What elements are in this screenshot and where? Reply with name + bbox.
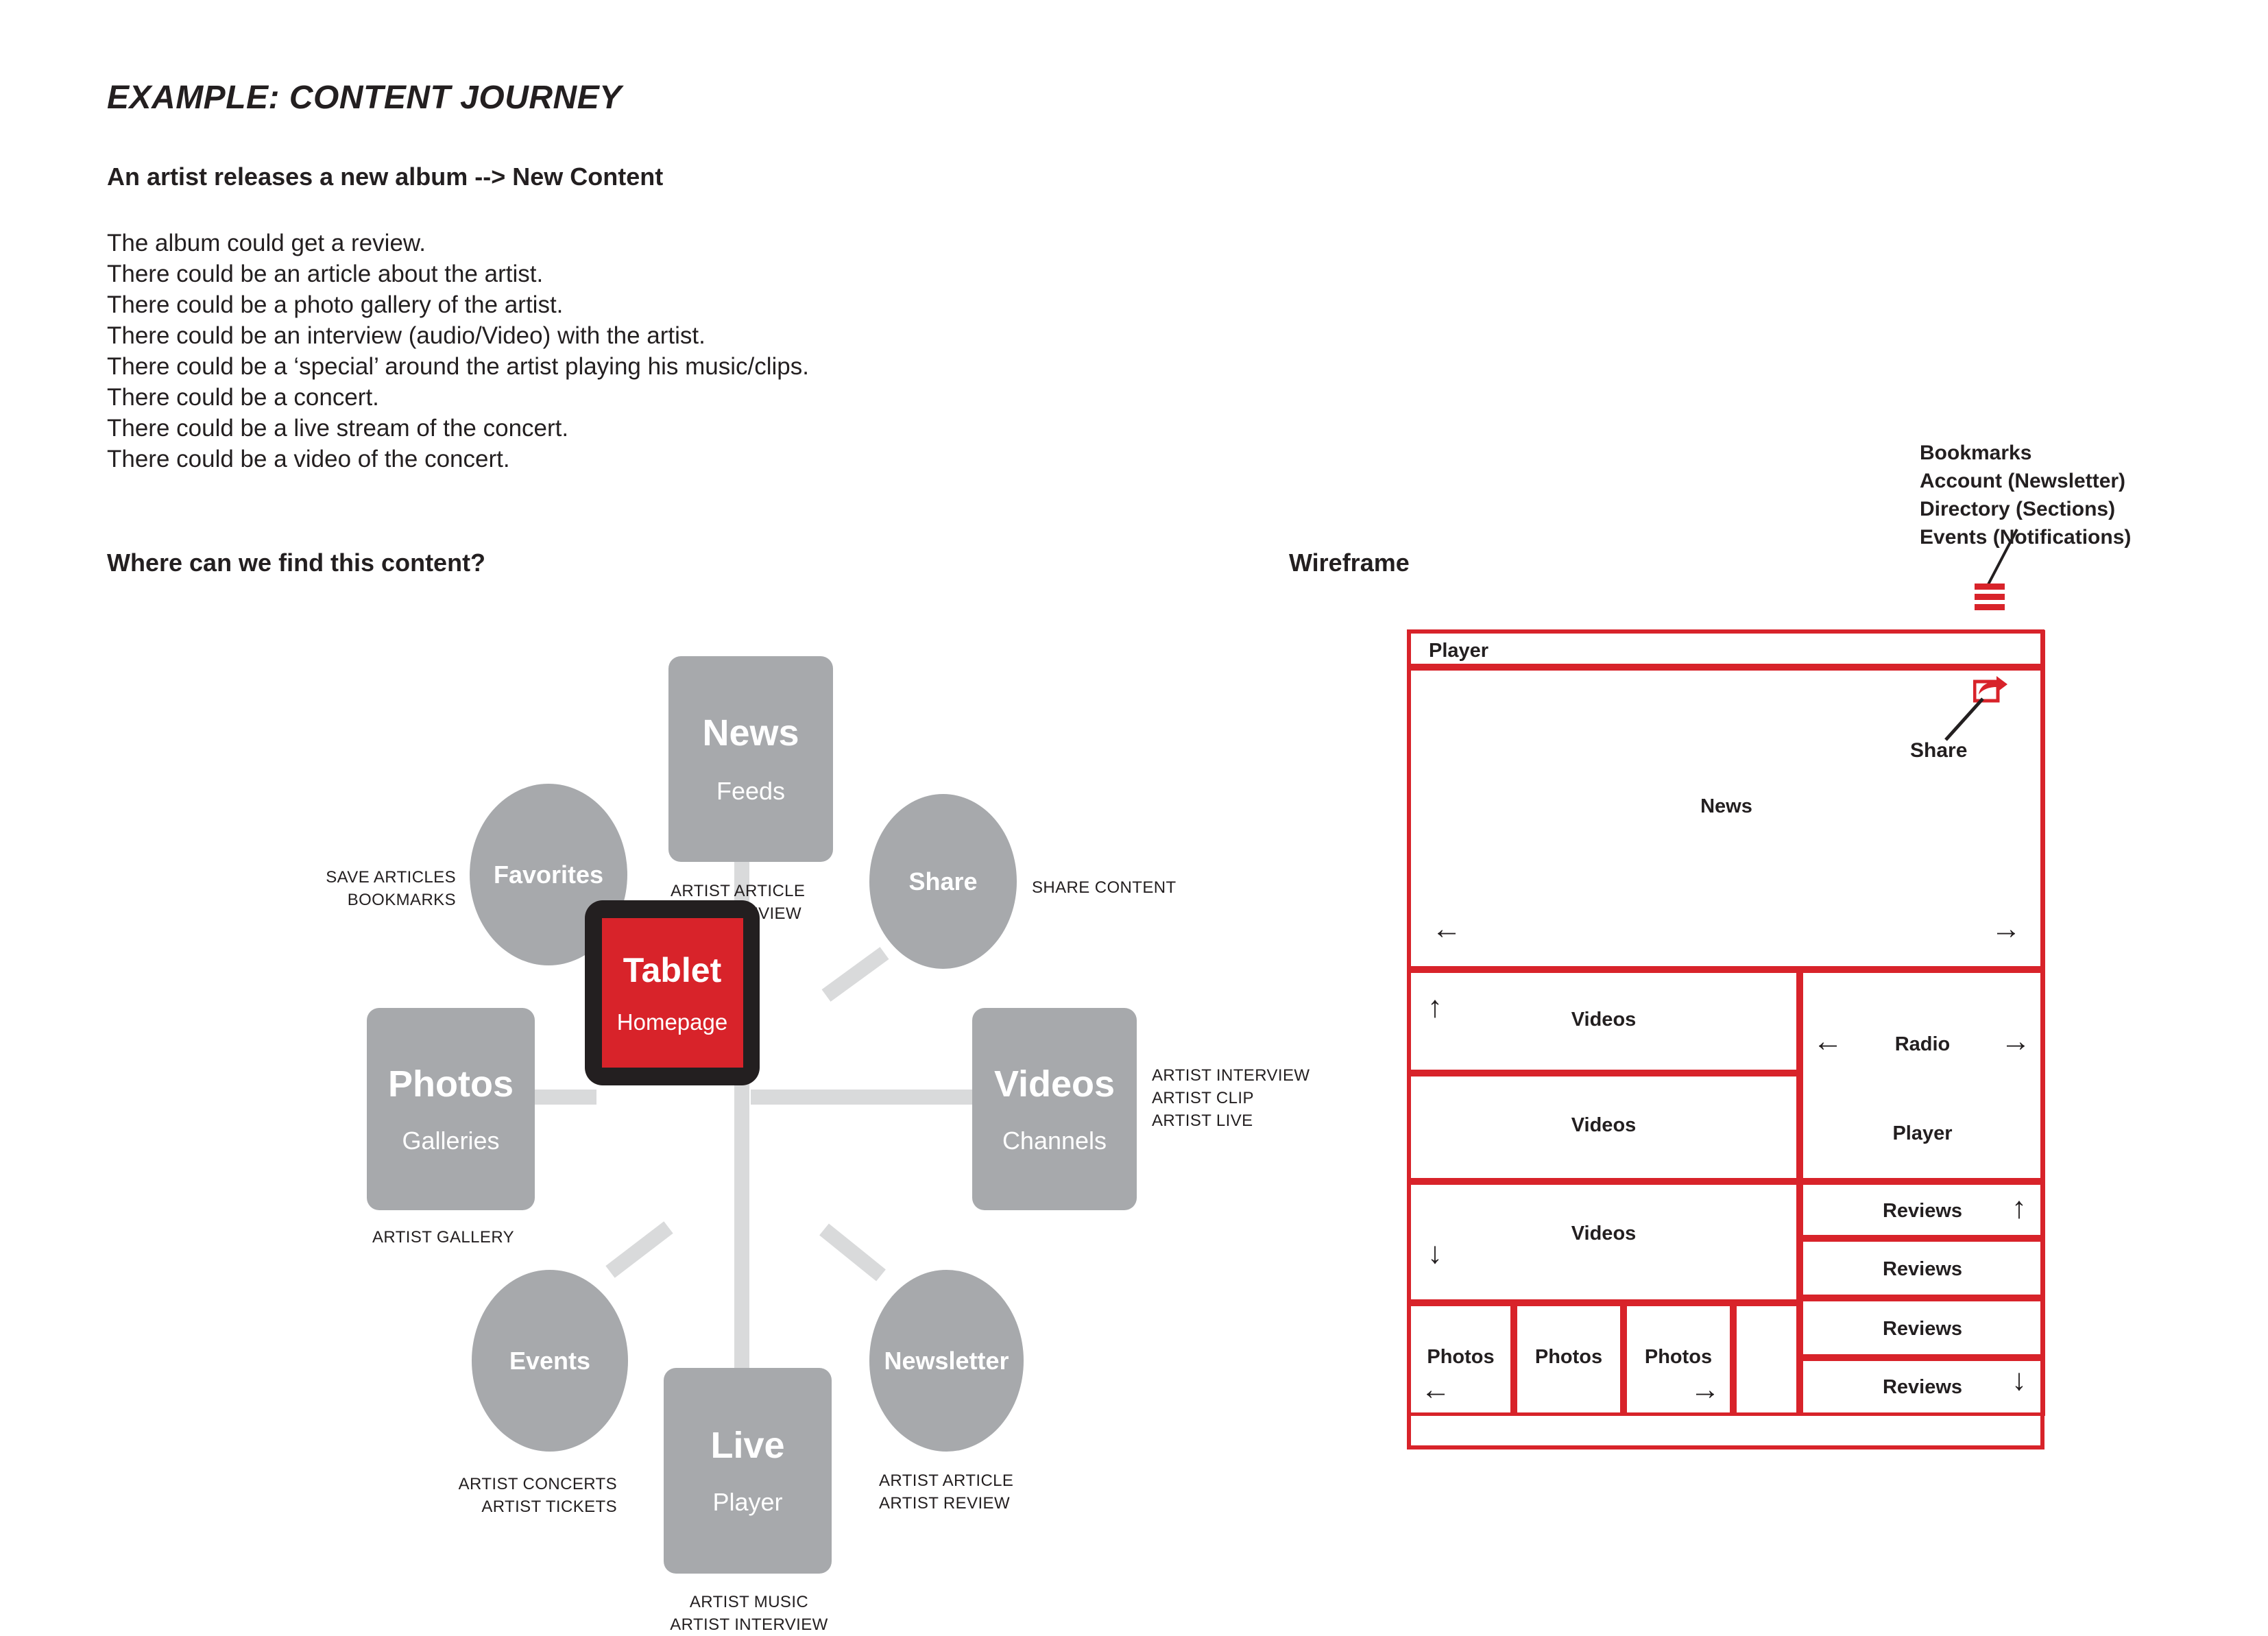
node-videos[interactable]: Videos Channels [972,1008,1137,1210]
node-tablet-center[interactable]: Tablet Homepage [585,900,760,1085]
content-hub-diagram: News Feeds Favorites Share Photos Galler… [295,617,1323,1474]
wf-cell-photos-2[interactable]: Photos [1514,1303,1624,1416]
wf-cell-player-bar[interactable]: Player [1408,630,2045,667]
list-item: There could be a concert. [107,382,809,413]
wf-reviews-1-label: Reviews [1803,1200,2042,1223]
node-live[interactable]: Live Player [664,1368,832,1574]
caption-photos: ARTIST GALLERY [372,1226,514,1249]
wireframe-heading: Wireframe [1289,549,1410,577]
wf-player-label: Player [1803,1122,2042,1145]
list-item: There could be an interview (audio/Video… [107,320,809,351]
legend-item-directory: Directory (Sections) [1920,495,2131,523]
wf-photos-left-arrow[interactable]: ← [1421,1375,1451,1405]
node-news-subtitle: Feeds [716,779,785,804]
wf-cell-reviews-4[interactable]: Reviews ↓ [1800,1358,2045,1416]
caption-videos: ARTIST INTERVIEW ARTIST CLIP ARTIST LIVE [1152,1064,1310,1132]
wf-cell-videos-1[interactable]: Videos ↑ [1408,970,1800,1073]
list-item: There could be a photo gallery of the ar… [107,289,809,320]
caption-favorites: SAVE ARTICLES BOOKMARKS [175,866,456,911]
tablet-subtitle: Homepage [617,1011,727,1033]
list-item: There could be a live stream of the conc… [107,413,809,444]
node-events-title: Events [509,1349,590,1373]
legend-item-bookmarks: Bookmarks [1920,439,2131,467]
caption-events: ARTIST CONCERTS ARTIST TICKETS [336,1473,617,1518]
wf-videos-down-arrow[interactable]: ↓ [1427,1238,1443,1268]
section-heading-find-content: Where can we find this content? [107,549,485,577]
wf-cell-photos-spacer [1733,1303,1800,1416]
node-favorites-title: Favorites [494,863,603,887]
list-item: There could be a ‘special’ around the ar… [107,351,809,382]
wf-share-label: Share [1910,739,1967,762]
wf-cell-reviews-1[interactable]: Reviews ↑ [1800,1181,2045,1238]
node-news-title: News [702,714,799,751]
node-newsletter-title: Newsletter [884,1349,1009,1373]
legend-item-account: Account (Newsletter) [1920,467,2131,495]
wf-videos-3-label: Videos [1411,1223,1796,1245]
possibility-list: The album could get a review. There coul… [107,228,809,474]
legend-leader-line [1975,528,2029,590]
wf-news-left-arrow[interactable]: ← [1432,914,1462,944]
list-item: The album could get a review. [107,228,809,258]
node-videos-title: Videos [994,1066,1115,1103]
page-title: EXAMPLE: CONTENT JOURNEY [107,79,622,117]
node-videos-subtitle: Channels [1002,1129,1107,1153]
hamburger-icon[interactable] [1975,584,2005,610]
wf-photos-3-label: Photos [1627,1346,1730,1369]
caption-live: ARTIST MUSIC ARTIST INTERVIEW [665,1591,833,1636]
node-share-title: Share [908,869,977,894]
caption-share: SHARE CONTENT [1032,876,1177,899]
node-newsletter[interactable]: Newsletter [869,1270,1024,1452]
wf-photos-1-label: Photos [1411,1346,1510,1369]
node-photos[interactable]: Photos Galleries [367,1008,535,1210]
node-events[interactable]: Events [472,1270,628,1452]
wf-cell-photos-1[interactable]: Photos ← [1408,1303,1514,1416]
wf-reviews-2-label: Reviews [1803,1258,2042,1281]
wf-videos-1-label: Videos [1411,1009,1796,1031]
wf-cell-videos-3[interactable]: Videos ↓ [1408,1181,1800,1303]
caption-newsletter: ARTIST ARTICLE ARTIST REVIEW [879,1469,1013,1515]
node-live-title: Live [710,1427,784,1464]
share-leader-line [1939,696,1987,744]
wf-cell-photos-3[interactable]: Photos → [1624,1303,1733,1416]
wf-player-bar-label: Player [1429,640,1488,662]
wf-radio-left-arrow[interactable]: ← [1813,1026,1843,1057]
wf-news-right-arrow[interactable]: → [1991,914,2021,944]
wf-reviews-down-arrow[interactable]: ↓ [2012,1365,2027,1395]
node-news[interactable]: News Feeds [668,656,833,862]
wf-videos-2-label: Videos [1411,1114,1796,1137]
wf-photos-right-arrow[interactable]: → [1690,1375,1720,1405]
wf-reviews-3-label: Reviews [1803,1318,2042,1340]
tablet-screen: Tablet Homepage [602,918,743,1068]
wf-reviews-4-label: Reviews [1803,1376,2042,1399]
wf-cell-reviews-2[interactable]: Reviews [1800,1238,2045,1298]
list-item: There could be an article about the arti… [107,258,809,289]
node-photos-subtitle: Galleries [402,1129,499,1153]
wf-news-label: News [1411,795,2042,818]
node-photos-title: Photos [388,1066,514,1103]
wf-photos-2-label: Photos [1517,1346,1620,1369]
node-share[interactable]: Share [869,794,1017,969]
list-item: There could be a video of the concert. [107,444,809,474]
wf-radio-right-arrow[interactable]: → [2001,1026,2031,1057]
lead-statement: An artist releases a new album --> New C… [107,163,663,191]
wf-reviews-up-arrow[interactable]: ↑ [2012,1193,2027,1223]
wf-cell-videos-2[interactable]: Videos [1408,1073,1800,1181]
tablet-title: Tablet [623,953,722,987]
node-live-subtitle: Player [712,1490,782,1515]
wf-cell-reviews-3[interactable]: Reviews [1800,1298,2045,1358]
wf-videos-up-arrow[interactable]: ↑ [1427,992,1443,1022]
wf-cell-radio[interactable]: Radio ← → Player [1800,970,2045,1181]
